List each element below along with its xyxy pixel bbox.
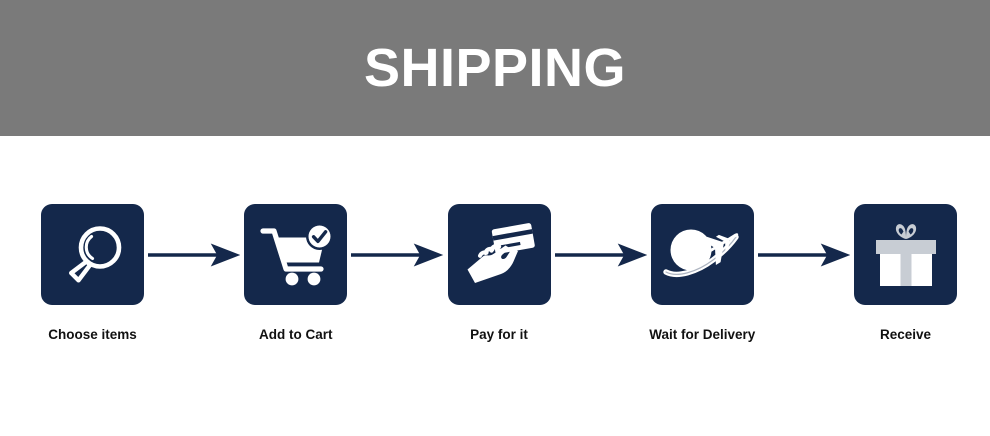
- step-label: Pay for it: [470, 328, 528, 342]
- process-connector-1: [144, 204, 244, 305]
- process-step-receive[interactable]: Receive: [854, 204, 957, 342]
- process-step-pay-for-it[interactable]: Pay for it: [448, 204, 551, 342]
- shipping-process-section: Choose items: [0, 136, 990, 436]
- step-icon-tile: [244, 204, 347, 305]
- process-steps-row: Choose items: [0, 204, 990, 364]
- process-connector-2: [347, 204, 447, 305]
- step-label: Receive: [880, 328, 931, 342]
- process-connector-4: [754, 204, 854, 305]
- process-connector-3: [551, 204, 651, 305]
- arrow-right-icon: [351, 242, 443, 268]
- step-icon-tile: [651, 204, 754, 305]
- process-step-choose-items[interactable]: Choose items: [41, 204, 144, 342]
- step-icon-tile: [448, 204, 551, 305]
- process-step-wait-for-delivery[interactable]: Wait for Delivery: [651, 204, 754, 342]
- header-banner: SHIPPING: [0, 0, 990, 136]
- shopping-cart-check-icon: [259, 220, 333, 290]
- arrow-right-icon: [555, 242, 647, 268]
- step-label: Choose items: [48, 328, 137, 342]
- arrow-right-icon: [148, 242, 240, 268]
- globe-airplane-icon: [663, 222, 741, 288]
- step-icon-tile: [854, 204, 957, 305]
- step-label: Wait for Delivery: [649, 328, 755, 342]
- hand-credit-card-icon: [461, 219, 537, 291]
- magnifying-glass-icon: [57, 219, 129, 291]
- step-icon-tile: [41, 204, 144, 305]
- step-label: Add to Cart: [259, 328, 333, 342]
- page-title: SHIPPING: [364, 41, 626, 95]
- gift-box-icon: [873, 220, 939, 290]
- process-step-add-to-cart[interactable]: Add to Cart: [244, 204, 347, 342]
- arrow-right-icon: [758, 242, 850, 268]
